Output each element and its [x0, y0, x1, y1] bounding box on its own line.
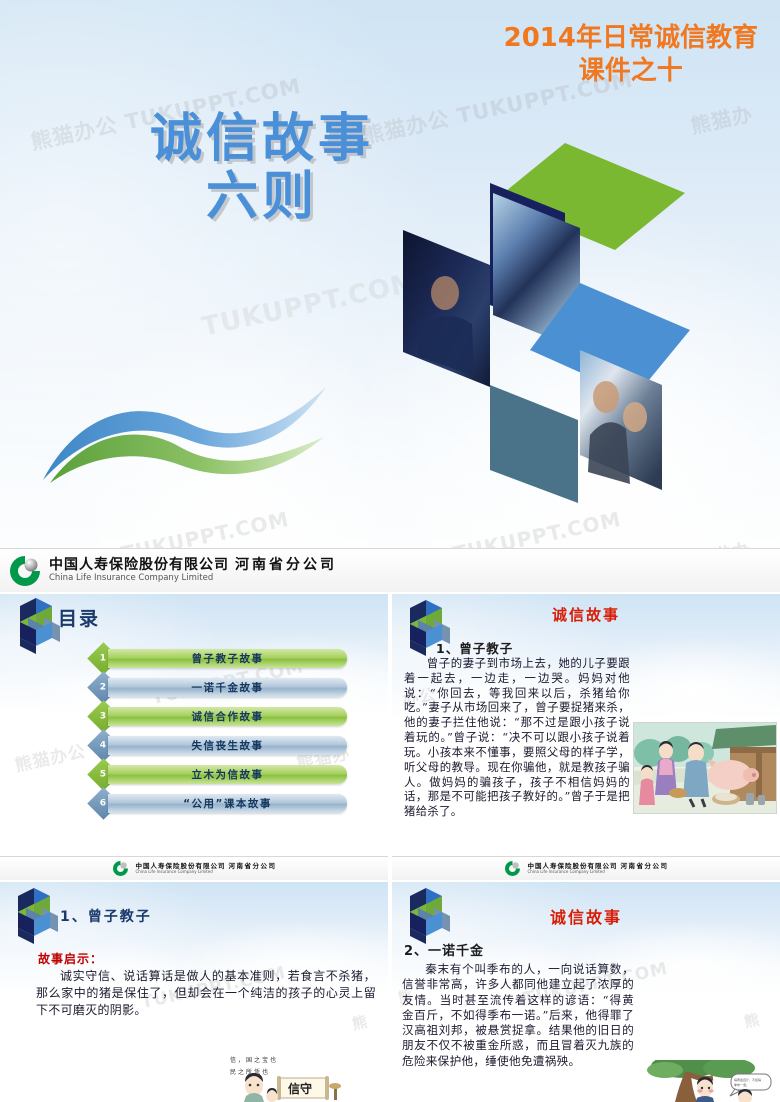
brand-logo: 中国人寿保险股份有限公司河南省分公司 China Life Insurance …: [504, 860, 669, 877]
swoosh-decoration: [38, 375, 328, 490]
cover-header-line2: 课件之十: [504, 55, 758, 88]
brand-name-en: China Life Insurance Company Limited: [136, 870, 277, 874]
svg-text:信，国之宝也: 信，国之宝也: [230, 1056, 278, 1064]
rhombus-collage: [390, 135, 690, 505]
slide-table-of-contents: TUKUPPT.COM 熊猫办公 熊猫办 目录 1 曾子教子故事 2 一诺千金故…: [0, 594, 388, 880]
brand-branch-cn: 河南省分公司: [235, 557, 337, 573]
svg-text:季布一诺。: 季布一诺。: [734, 1082, 749, 1087]
toc-item[interactable]: 1 曾子教子故事: [92, 646, 347, 671]
svg-text:得黄金百斤，不如得: 得黄金百斤，不如得: [734, 1077, 761, 1082]
toc-item-label[interactable]: 立木为信故事: [108, 765, 347, 784]
slide-title: 诚信故事: [392, 604, 780, 625]
svg-text:信守: 信守: [288, 1081, 312, 1096]
moral-label: 故事启示：: [38, 950, 103, 967]
steel-rhombus: [490, 385, 578, 503]
tree-dialogue-cartoon-image: 得黄金百斤，不如得 季布一诺。: [645, 1060, 777, 1102]
cube-logo-icon: [8, 886, 60, 944]
china-life-logo-icon: [8, 554, 42, 588]
footer-logo-bar: 中国人寿保险股份有限公司河南省分公司 China Life Insurance …: [392, 856, 780, 880]
china-life-logo-icon: [504, 860, 521, 877]
toc-item[interactable]: 5 立木为信故事: [92, 762, 347, 787]
cover-header-line1: 2014年日常诚信教育: [504, 23, 758, 53]
toc-title: 目录: [58, 604, 100, 631]
story-body-text: 秦末有个叫季布的人，一向说话算数，信誉非常高，许多人都同他建立起了浓厚的友情。当…: [402, 962, 634, 1069]
toc-item[interactable]: 2 一诺千金故事: [92, 675, 347, 700]
cover-header: 2014年日常诚信教育 课件之十: [504, 22, 758, 89]
story-body-text: 曾子的妻子到市场上去，她的儿子要跟着一起去，一边走，一边哭。妈妈对他说：“你回去…: [404, 656, 630, 819]
toc-item-label[interactable]: 诚信合作故事: [108, 707, 347, 726]
brand-name-cn: 中国人寿保险股份有限公司: [49, 557, 229, 573]
cover-title-line1: 诚信故事: [150, 109, 374, 169]
toc-item-label[interactable]: 一诺千金故事: [108, 678, 347, 697]
toc-item[interactable]: 4 失信丧生故事: [92, 733, 347, 758]
brand-name-en: China Life Insurance Company Limited: [528, 870, 669, 874]
section-heading: 1、曾子教子: [436, 638, 513, 657]
toc-list: 1 曾子教子故事 2 一诺千金故事 3 诚信合作故事 4 失信丧生故事 5 立木…: [92, 646, 347, 820]
cube-logo-icon: [10, 596, 62, 654]
slide-title: 诚信故事: [392, 904, 780, 928]
brand-logo: 中国人寿保险股份有限公司河南省分公司 China Life Insurance …: [8, 554, 337, 588]
zengzi-pig-cartoon-image: [633, 722, 777, 814]
toc-item-label[interactable]: “公用”课本故事: [108, 794, 347, 813]
watermark: 熊猫办公: [12, 737, 88, 776]
watermark: 熊: [742, 1009, 762, 1033]
brand-branch-cn: 河南省分公司: [229, 862, 277, 870]
section-heading: 2、一诺千金: [404, 940, 484, 959]
toc-item[interactable]: 3 诚信合作故事: [92, 704, 347, 729]
toc-item-label[interactable]: 失信丧生故事: [108, 736, 347, 755]
china-life-logo-icon: [112, 860, 129, 877]
toc-item[interactable]: 6 “公用”课本故事: [92, 791, 347, 816]
brand-branch-cn: 河南省分公司: [621, 862, 669, 870]
footer-logo-bar: 中国人寿保险股份有限公司河南省分公司 China Life Insurance …: [0, 548, 780, 592]
slide-cover: 熊猫办公 TUKUPPT.COM 熊猫办公 TUKUPPT.COM 熊猫办 熊猫…: [0, 0, 780, 592]
moral-body-text: 诚实守信、说话算话是做人的基本准则，若食言不杀猪，那么家中的猪是保住了，但却会在…: [36, 968, 376, 1019]
brand-name-en: China Life Insurance Company Limited: [49, 574, 337, 584]
section-heading: 1、曾子教子: [60, 906, 152, 926]
footer-logo-bar: 中国人寿保险股份有限公司河南省分公司 China Life Insurance …: [0, 856, 388, 880]
toc-item-label[interactable]: 曾子教子故事: [108, 649, 347, 668]
brand-logo: 中国人寿保险股份有限公司河南省分公司 China Life Insurance …: [112, 860, 277, 877]
trust-scroll-cartoon-image: 信，国之宝也 民之所凭也 信守: [222, 1052, 347, 1102]
